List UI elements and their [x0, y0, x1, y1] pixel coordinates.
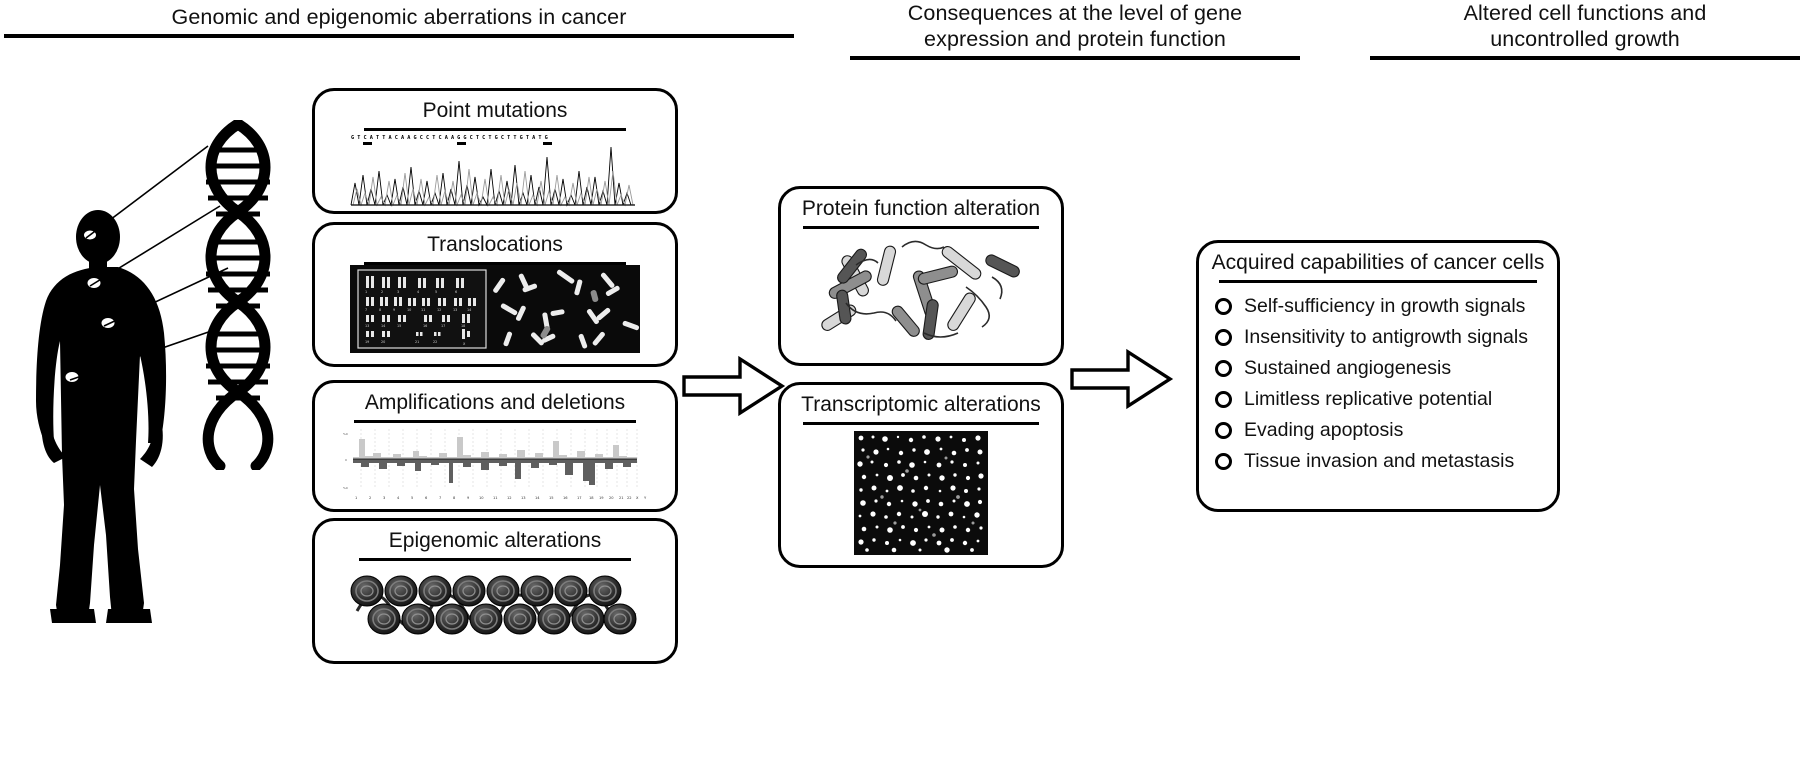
svg-text:10: 10 — [479, 496, 484, 500]
svg-text:3: 3 — [397, 290, 399, 294]
sanger-chromatogram-image: G T C A T T A C A A G C C T C A A G G C … — [345, 131, 645, 209]
svg-text:5: 5 — [435, 290, 437, 294]
svg-text:5: 5 — [411, 496, 413, 500]
panel-transcriptomic-alterations[interactable]: Transcriptomic alterations — [778, 382, 1064, 568]
panel-amplifications-deletions[interactable]: Amplifications and deletions — [312, 380, 678, 512]
panel-translocations-body: 123 456 789 101112 1314 131415 161718 19… — [315, 265, 675, 353]
panel-acquired-capabilities-rule — [1219, 280, 1537, 283]
panel-epigenomic-alterations-title: Epigenomic alterations — [315, 521, 675, 553]
list-item[interactable]: Insensitivity to antigrowth signals — [1215, 326, 1557, 349]
column-header-functions-rule — [1370, 56, 1800, 60]
svg-text:11: 11 — [421, 308, 425, 312]
svg-text:8: 8 — [379, 308, 381, 312]
panel-amplifications-deletions-title: Amplifications and deletions — [315, 383, 675, 415]
microarray-spot-grid-image — [854, 431, 988, 555]
svg-text:20: 20 — [381, 340, 385, 344]
panel-point-mutations[interactable]: Point mutations G T C A T T A C A A G C … — [312, 88, 678, 214]
dna-double-helix-icon — [190, 120, 286, 470]
acquired-capabilities-list: Self-sufficiency in growth signals Insen… — [1199, 295, 1557, 473]
panel-translocations-title: Translocations — [315, 225, 675, 257]
svg-text:2: 2 — [369, 496, 371, 500]
list-item-label: Limitless replicative potential — [1244, 388, 1492, 410]
svg-text:21: 21 — [415, 340, 419, 344]
svg-text:7: 7 — [439, 496, 441, 500]
copy-number-profile-image: %0 0 %0 123 456 789 101112 131415 161718… — [339, 423, 651, 505]
column-header-genomic-rule — [4, 34, 794, 38]
circle-bullet-icon — [1215, 391, 1232, 408]
nucleosome-chromatin-image — [349, 561, 641, 647]
svg-text:3: 3 — [383, 496, 385, 500]
list-item-label: Insensitivity to antigrowth signals — [1244, 326, 1528, 348]
panel-acquired-capabilities[interactable]: Acquired capabilities of cancer cells Se… — [1196, 240, 1560, 512]
svg-text:15: 15 — [549, 496, 554, 500]
panel-acquired-capabilities-title: Acquired capabilities of cancer cells — [1199, 243, 1557, 275]
svg-text:22: 22 — [627, 496, 632, 500]
panel-epigenomic-alterations-body — [315, 561, 675, 647]
svg-text:13: 13 — [453, 308, 457, 312]
list-item-label: Self-sufficiency in growth signals — [1244, 295, 1525, 317]
svg-text:17: 17 — [577, 496, 582, 500]
svg-text:17: 17 — [441, 324, 445, 328]
list-item[interactable]: Self-sufficiency in growth signals — [1215, 295, 1557, 318]
svg-text:18: 18 — [589, 496, 594, 500]
figure-canvas: Genomic and epigenomic aberrations in ca… — [0, 0, 1800, 764]
svg-text:1: 1 — [365, 290, 367, 294]
panel-point-mutations-body: G T C A T T A C A A G C C T C A A G G C … — [315, 131, 675, 209]
svg-text:22: 22 — [433, 340, 437, 344]
panel-epigenomic-alterations[interactable]: Epigenomic alterations — [312, 518, 678, 664]
svg-text:0: 0 — [345, 458, 347, 462]
svg-text:G T C A T T A C A A G C C T C: G T C A T T A C A A G C C T C A A G G C … — [351, 135, 548, 141]
panel-protein-function-alteration[interactable]: Protein function alteration — [778, 186, 1064, 366]
panel-point-mutations-title: Point mutations — [315, 91, 675, 123]
svg-text:4: 4 — [417, 290, 419, 294]
svg-text:13: 13 — [365, 324, 369, 328]
list-item[interactable]: Sustained angiogenesis — [1215, 357, 1557, 380]
column-header-functions-text: Altered cell functions and uncontrolled … — [1370, 0, 1800, 52]
circle-bullet-icon — [1215, 453, 1232, 470]
svg-text:13: 13 — [521, 496, 526, 500]
column-header-consequences: Consequences at the level of gene expres… — [850, 0, 1300, 60]
svg-text:12: 12 — [507, 496, 512, 500]
column-header-consequences-text: Consequences at the level of gene expres… — [850, 0, 1300, 52]
svg-text:12: 12 — [437, 308, 441, 312]
panel-protein-function-alteration-title: Protein function alteration — [781, 189, 1061, 221]
arrow-left-to-mid-icon — [682, 355, 786, 417]
svg-text:19: 19 — [365, 340, 369, 344]
svg-text:14: 14 — [381, 324, 385, 328]
svg-text:14: 14 — [467, 308, 471, 312]
circle-bullet-icon — [1215, 298, 1232, 315]
svg-text:9: 9 — [393, 308, 395, 312]
panel-amplifications-deletions-body: %0 0 %0 123 456 789 101112 131415 161718… — [315, 423, 675, 505]
column-header-functions: Altered cell functions and uncontrolled … — [1370, 0, 1800, 60]
svg-text:20: 20 — [609, 496, 614, 500]
circle-bullet-icon — [1215, 329, 1232, 346]
list-item[interactable]: Limitless replicative potential — [1215, 388, 1557, 411]
circle-bullet-icon — [1215, 422, 1232, 439]
list-item-label: Tissue invasion and metastasis — [1244, 450, 1514, 472]
svg-text:18: 18 — [461, 324, 465, 328]
list-item[interactable]: Evading apoptosis — [1215, 419, 1557, 442]
svg-text:21: 21 — [619, 496, 624, 500]
panel-transcriptomic-alterations-body — [781, 431, 1061, 555]
svg-text:14: 14 — [535, 496, 540, 500]
list-item[interactable]: Tissue invasion and metastasis — [1215, 450, 1557, 473]
svg-text:16: 16 — [423, 324, 427, 328]
svg-text:15: 15 — [397, 324, 401, 328]
panel-protein-function-alteration-body — [781, 229, 1061, 353]
circle-bullet-icon — [1215, 360, 1232, 377]
svg-text:7: 7 — [365, 308, 367, 312]
svg-text:10: 10 — [407, 308, 411, 312]
svg-text:1: 1 — [355, 496, 357, 500]
list-item-label: Sustained angiogenesis — [1244, 357, 1451, 379]
svg-text:6: 6 — [455, 290, 457, 294]
svg-text:19: 19 — [599, 496, 604, 500]
svg-text:16: 16 — [563, 496, 568, 500]
svg-text:2: 2 — [381, 290, 383, 294]
svg-text:%0: %0 — [343, 432, 348, 436]
arrow-mid-to-right-icon — [1070, 348, 1174, 410]
column-header-genomic: Genomic and epigenomic aberrations in ca… — [4, 4, 794, 38]
panel-translocations[interactable]: Translocations — [312, 222, 678, 367]
panel-transcriptomic-alterations-rule — [803, 422, 1039, 425]
column-header-genomic-text: Genomic and epigenomic aberrations in ca… — [4, 4, 794, 30]
svg-text:%0: %0 — [343, 486, 348, 490]
svg-text:11: 11 — [493, 496, 498, 500]
protein-ribbon-structure-image — [816, 229, 1026, 353]
column-header-consequences-rule — [850, 56, 1300, 60]
list-item-label: Evading apoptosis — [1244, 419, 1403, 441]
panel-transcriptomic-alterations-title: Transcriptomic alterations — [781, 385, 1061, 417]
karyotype-image: 123 456 789 101112 1314 131415 161718 19… — [350, 265, 640, 353]
